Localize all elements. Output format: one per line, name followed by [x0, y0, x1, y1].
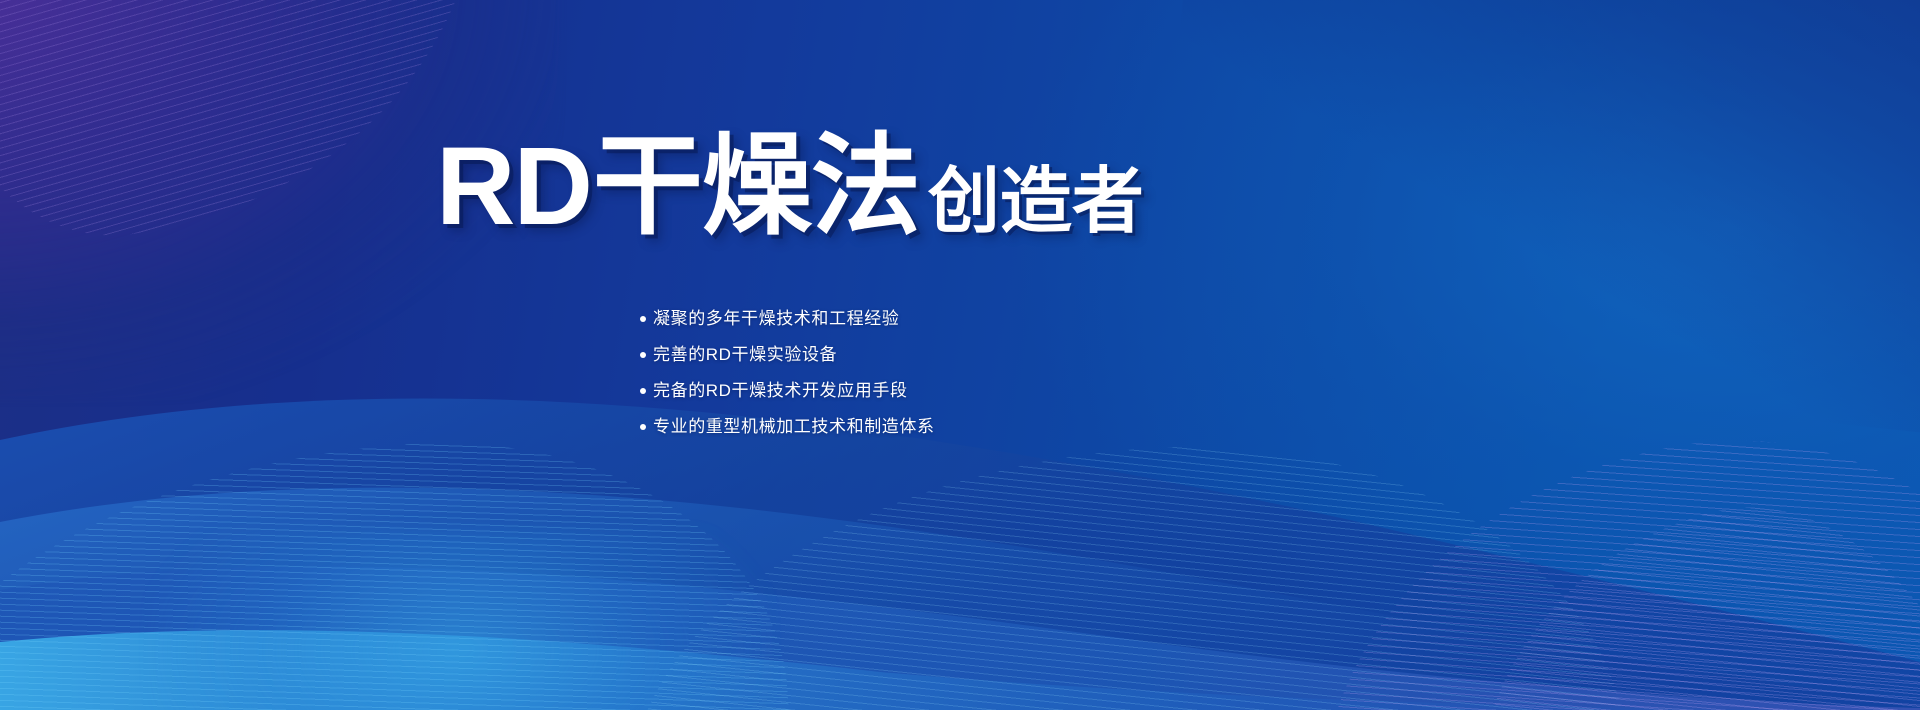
list-item: 专业的重型机械加工技术和制造体系 [640, 418, 935, 435]
bullet-text: 专业的重型机械加工技术和制造体系 [653, 418, 935, 435]
bullet-dot-icon [640, 316, 646, 322]
list-item: 完备的RD干燥技术开发应用手段 [640, 382, 935, 399]
headline-main: RD干燥法 [436, 132, 920, 242]
feature-bullet-list: 凝聚的多年干燥技术和工程经验 完善的RD干燥实验设备 完备的RD干燥技术开发应用… [640, 310, 935, 435]
headline-subtitle: 创造者 [928, 166, 1144, 242]
bullet-dot-icon [640, 388, 646, 394]
list-item: 完善的RD干燥实验设备 [640, 346, 935, 363]
banner-headline: RD干燥法 创造者 [436, 132, 1144, 242]
headline-main-latin: RD [436, 125, 591, 248]
hero-banner: RD干燥法 创造者 凝聚的多年干燥技术和工程经验 完善的RD干燥实验设备 完备的… [0, 0, 1920, 710]
bullet-dot-icon [640, 352, 646, 358]
bullet-dot-icon [640, 424, 646, 430]
list-item: 凝聚的多年干燥技术和工程经验 [640, 310, 935, 327]
bullet-text: 凝聚的多年干燥技术和工程经验 [653, 310, 899, 327]
headline-main-cjk: 干燥法 [593, 125, 920, 248]
bullet-text: 完备的RD干燥技术开发应用手段 [653, 382, 908, 399]
bullet-text: 完善的RD干燥实验设备 [653, 346, 837, 363]
banner-content: RD干燥法 创造者 凝聚的多年干燥技术和工程经验 完善的RD干燥实验设备 完备的… [0, 0, 1920, 710]
